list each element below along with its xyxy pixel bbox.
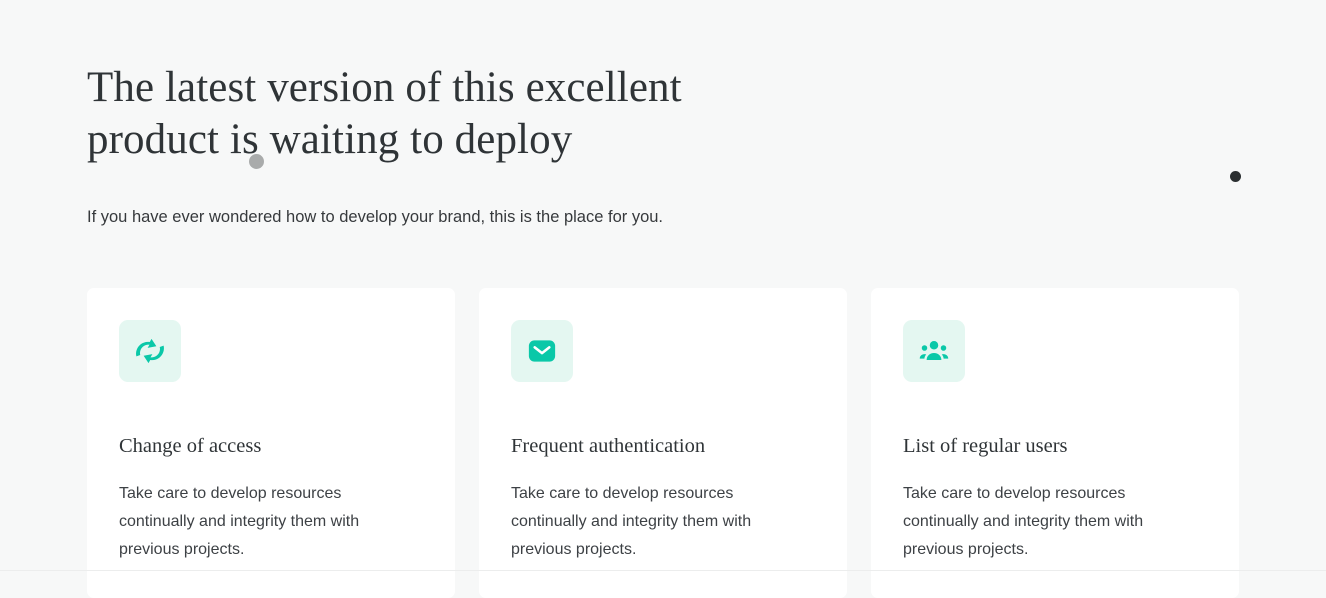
page-subtitle: If you have ever wondered how to develop…	[87, 166, 1239, 230]
icon-tile	[511, 320, 573, 382]
feature-card-text: Take care to develop resources continual…	[903, 460, 1203, 564]
icon-tile	[119, 320, 181, 382]
icon-tile	[903, 320, 965, 382]
feature-card-list: Change of access Take care to develop re…	[87, 230, 1239, 598]
page-content: The latest version of this excellent pro…	[87, 0, 1239, 598]
landing-page: The latest version of this excellent pro…	[0, 0, 1326, 571]
sync-arrows-icon	[135, 336, 165, 366]
feature-card[interactable]: Change of access Take care to develop re…	[87, 288, 455, 598]
feature-card-title: List of regular users	[903, 382, 1207, 460]
feature-card[interactable]: List of regular users Take care to devel…	[871, 288, 1239, 598]
page-title: The latest version of this excellent pro…	[87, 0, 787, 166]
feature-card-title: Change of access	[119, 382, 423, 460]
feature-card-title: Frequent authentication	[511, 382, 815, 460]
mail-envelope-icon	[527, 336, 557, 366]
feature-card-text: Take care to develop resources continual…	[119, 460, 419, 564]
feature-card-text: Take care to develop resources continual…	[511, 460, 811, 564]
feature-card[interactable]: Frequent authentication Take care to dev…	[479, 288, 847, 598]
people-group-icon	[919, 336, 949, 366]
